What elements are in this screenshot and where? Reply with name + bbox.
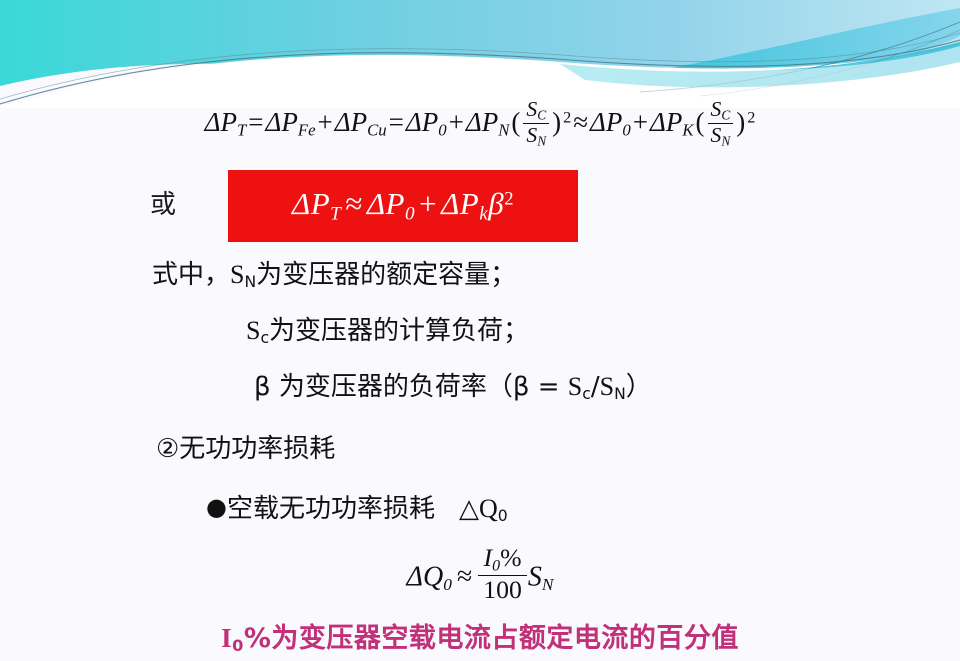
eq-main-frac1-denominator: SN [523,123,549,149]
bottom-note-text: 为变压器空载电流占额定电流的百分值 [271,623,739,654]
eq-main-plus-3: + [631,107,650,137]
eq-boxed-sub-k: k [479,204,488,225]
bullet-marker-icon: ● [206,493,227,521]
equation-main-power-loss: ΔPT=ΔPFe+ΔPCu=ΔP0+ΔPN( SC SN )2≈ΔP0+ΔPK(… [0,98,960,149]
note-sn-text: 为变压器的额定容量； [256,260,516,290]
eq-boxed-sub-0: 0 [405,204,415,225]
bullet-symbol-sub: 0 [498,507,508,525]
eq-boxed-P-3: P [460,186,479,221]
eq-main-sub-0-2: 0 [622,121,630,140]
bottom-note-percent: % [244,623,272,654]
eq-main-approx: ≈ [571,107,590,137]
eq-q0-numerator: I0% [478,544,527,575]
eq-main-paren-close-2: ) [734,107,747,137]
eq-q0-fraction: I0% 100 [478,544,527,604]
eq-main-delta: Δ [205,107,221,137]
or-label: 或 [150,184,176,221]
note-sc-symbol-sub: c [260,329,269,347]
eq-main-P-3: P [351,107,368,137]
bottom-note-i0-percent: I0%为变压器空载电流占额定电流的百分值 [0,616,960,655]
eq-main-sub-N-1: N [498,121,509,140]
slide-content: ΔPT=ΔPFe+ΔPCu=ΔP0+ΔPN( SC SN )2≈ΔP0+ΔPK(… [0,92,960,661]
bottom-note-symbol-sub: 0 [232,636,244,655]
eq-main-fraction-1: SC SN [523,98,549,149]
eq-main-sup-2-1: 2 [563,109,571,127]
bottom-note-symbol-I: I [221,623,232,653]
eq-boxed-P-2: P [386,186,405,221]
eq-boxed-plus: + [415,186,441,221]
eq-boxed-approx: ≈ [341,186,367,221]
eq-q0-num-sub: 0 [492,557,500,574]
eq-main-P-2: P [281,107,298,137]
eq-q0-approx: ≈ [452,561,477,592]
eq-main-frac1-S2: S [526,123,537,147]
eq-main-delta-7: Δ [650,107,666,137]
eq-boxed-delta-1: Δ [292,186,311,221]
eq-main-plus-2: + [447,107,466,137]
eq-main-equals-2: = [387,107,406,137]
eq-main-frac2-numerator: SC [708,98,734,123]
note-beta-formula-sub-n: N [614,385,626,403]
eq-main-frac1-sub-C: C [537,108,546,123]
note-sn-prefix: 式中， [152,260,230,290]
eq-boxed-sub-T: T [330,204,341,225]
eq-main-delta-6: Δ [590,107,606,137]
note-sn-symbol-sub: N [244,273,256,291]
eq-main-sub-K: K [682,121,693,140]
eq-q0-num-percent: % [500,543,521,572]
eq-main-delta-3: Δ [335,107,351,137]
eq-main-delta-4: Δ [406,107,422,137]
equation-boxed-simplified: ΔPT≈ΔP0+ΔPkβ2 [292,186,514,225]
note-sc-text: 为变压器的计算负荷； [269,316,529,346]
eq-q0-num-I: I [484,543,493,572]
eq-main-P-4: P [422,107,439,137]
note-beta-text: 为变压器的负荷率（ [279,372,513,402]
eq-main-delta-5: Δ [466,107,482,137]
eq-main-frac1-sub-N: N [537,134,546,149]
note-sn-symbol: S [230,260,244,289]
eq-q0-sub-0: 0 [443,575,452,594]
eq-main-sub-Cu: Cu [367,121,387,140]
note-beta-formula-equals: = [538,372,560,402]
eq-main-plus-1: + [316,107,335,137]
section-heading-reactive-power-loss: ②无功功率损耗 [156,428,335,465]
eq-main-P-5: P [482,107,499,137]
equation-no-load-reactive-loss: ΔQ0≈ I0% 100 SN [0,544,960,604]
note-sn: 式中，SN为变压器的额定容量； [152,254,516,291]
eq-boxed-beta: β [488,186,504,221]
triangle-icon: △ [459,494,479,524]
eq-main-P: P [220,107,237,137]
note-beta-symbol: β [254,372,271,402]
eq-main-sub-Fe: Fe [298,121,316,140]
eq-boxed-delta-2: Δ [367,186,386,221]
eq-main-sup-2-2: 2 [747,109,755,127]
eq-main-frac2-sub-N: N [721,134,730,149]
eq-main-frac2-S2: S [711,123,722,147]
eq-main-paren-open-2: ( [694,107,707,137]
eq-q0-S: S [528,561,542,592]
eq-boxed-delta-3: Δ [441,186,460,221]
eq-q0-denominator: 100 [478,575,527,604]
note-sc: Sc为变压器的计算负荷； [246,310,529,347]
eq-q0-delta: Δ [407,561,423,592]
eq-main-P-6: P [606,107,623,137]
eq-main-fraction-2: SC SN [708,98,734,149]
eq-q0-Q: Q [423,561,443,592]
note-beta-formula-sc: S [568,372,582,401]
bullet-text: 空载无功功率损耗 [227,494,435,524]
bullet-no-load-reactive-loss: ●空载无功功率损耗△Q0 [206,488,508,525]
eq-main-sub-T: T [237,121,246,140]
note-beta: β 为变压器的负荷率（β = Sc/SN） [254,366,652,403]
eq-main-paren-open-1: ( [509,107,522,137]
bullet-symbol-q: Q [479,494,498,523]
eq-main-P-7: P [666,107,683,137]
eq-boxed-sup-2: 2 [504,189,514,210]
eq-boxed-P-1: P [311,186,330,221]
note-beta-formula-beta: β [513,372,530,402]
note-beta-suffix: ） [626,372,652,402]
eq-main-frac2-denominator: SN [708,123,734,149]
note-beta-formula-sub-c: c [582,385,591,403]
note-sc-symbol: S [246,316,260,345]
eq-q0-sub-N: N [542,575,554,594]
eq-main-equals-1: = [246,107,265,137]
eq-main-delta-2: Δ [266,107,282,137]
eq-main-frac2-sub-C: C [721,108,730,123]
eq-main-paren-close-1: ) [550,107,563,137]
red-highlight-box: ΔPT≈ΔP0+ΔPkβ2 [228,170,578,242]
eq-main-sub-0-1: 0 [438,121,446,140]
note-beta-formula-slash: / [591,372,600,402]
boxed-equation-row: 或 ΔPT≈ΔP0+ΔPkβ2 [0,170,960,244]
eq-main-frac2-S: S [711,97,722,121]
note-beta-formula-sn: S [600,372,614,401]
eq-main-frac1-S: S [526,97,537,121]
eq-main-frac1-numerator: SC [523,98,549,123]
